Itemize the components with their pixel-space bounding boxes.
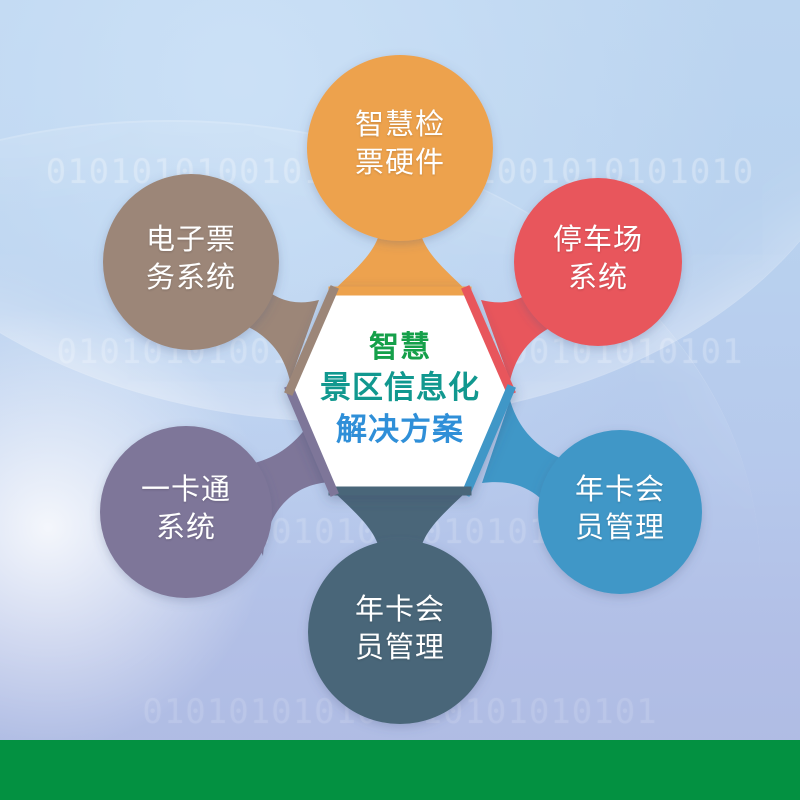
node-circle-annual-card-member-right[interactable] <box>538 430 702 594</box>
node-circle-annual-card-member-bottom[interactable] <box>308 540 492 724</box>
diagram-svg <box>0 0 800 800</box>
infographic-canvas: 010101010010101010101001010101010 010101… <box>0 0 800 800</box>
center-hexagon-group[interactable] <box>290 291 510 491</box>
node-circle-parking-system[interactable] <box>514 178 682 346</box>
node-circle-smart-ticket-hardware[interactable] <box>307 55 493 241</box>
node-circle-e-ticket-system[interactable] <box>103 174 279 350</box>
footer-bar <box>0 740 800 800</box>
hub-and-spoke-diagram: 智慧检 票硬件 停车场 系统 年卡会 员管理 年卡会 员管理 一卡通 系统 电子… <box>0 0 800 800</box>
node-circle-one-card-system[interactable] <box>100 426 272 598</box>
